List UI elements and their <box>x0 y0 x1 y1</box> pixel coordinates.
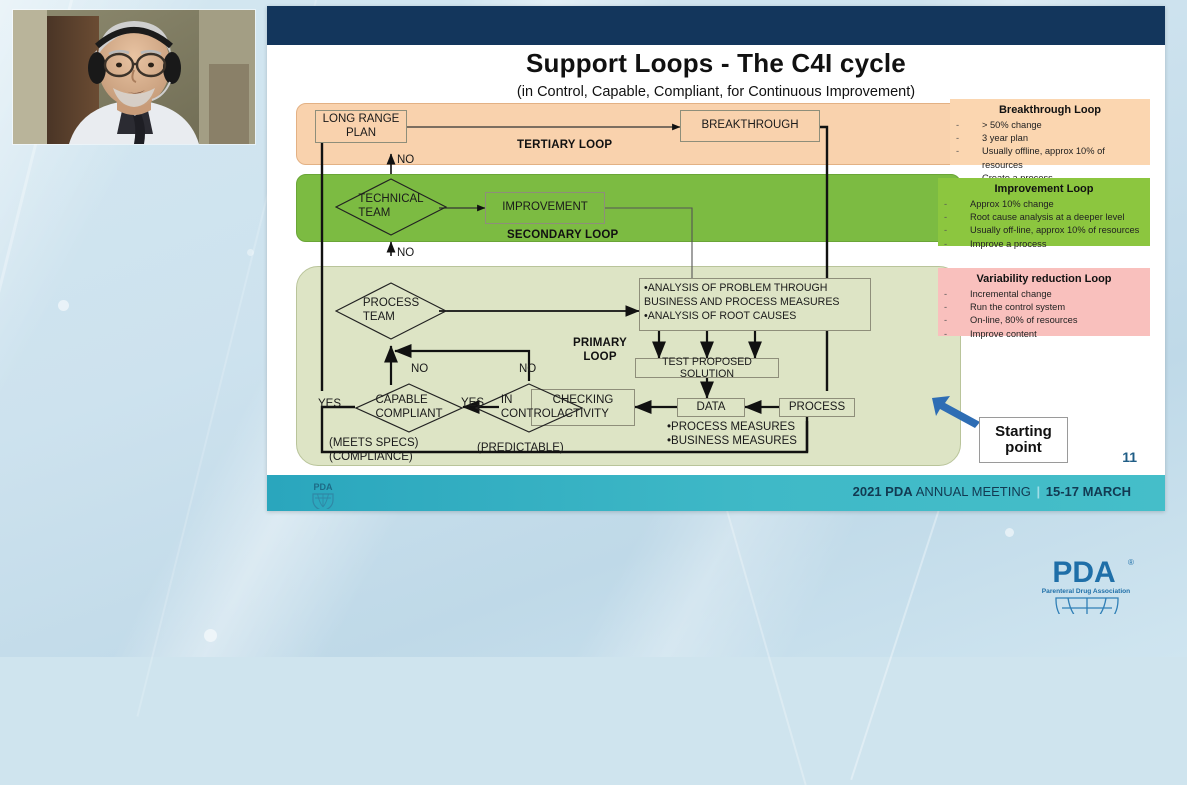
improvement-node[interactable]: IMPROVEMENT <box>485 192 605 224</box>
starting-point-arrow-icon <box>930 392 984 428</box>
process-node[interactable]: PROCESS <box>779 398 855 417</box>
pda-logo-subtitle: Parenteral Drug Association <box>1042 588 1130 595</box>
capable-compliant-sub-label: (MEETS SPECS) (COMPLIANCE) <box>329 436 418 465</box>
legend-dash: - <box>956 132 982 145</box>
legend-improvement-loop: Improvement Loop -Approx 10% change -Roo… <box>938 178 1150 246</box>
legend-item-text: Improve a process <box>970 238 1046 251</box>
in-control-label: IN CONTROL <box>475 383 583 433</box>
technical-team-label: TECHNICAL TEAM <box>335 178 447 236</box>
legend-item-text: Root cause analysis at a deeper level <box>970 211 1125 224</box>
data-node[interactable]: DATA <box>677 398 745 417</box>
legend-item: -3 year plan <box>956 132 1144 145</box>
legend-item: -Approx 10% change <box>944 198 1144 211</box>
presenter-video-tile[interactable] <box>13 10 255 144</box>
legend-item-text: Incremental change <box>970 288 1052 301</box>
background-dot <box>204 629 217 642</box>
in-control-sub-label: (PREDICTABLE) <box>477 441 564 455</box>
legend-item-text: 3 year plan <box>982 132 1028 145</box>
background-dot <box>58 300 69 311</box>
slide-title: Support Loops - The C4I cycle <box>267 48 1165 79</box>
legend-item: -> 50% change <box>956 119 1144 132</box>
slide-footer-bar: PDA 2021 PDA ANNUAL MEETING | 15-17 MARC… <box>267 475 1165 511</box>
footer-year-brand: 2021 PDA <box>853 484 913 499</box>
legend-dash: - <box>944 301 970 314</box>
svg-text:PDA: PDA <box>313 482 333 492</box>
slide-header-bar <box>267 6 1165 45</box>
presenter-webcam-image <box>13 10 255 144</box>
tertiary-loop-label: TERTIARY LOOP <box>517 139 612 151</box>
breakthrough-node[interactable]: BREAKTHROUGH <box>680 110 820 142</box>
tertiary-no-label: NO <box>397 153 414 167</box>
legend-dash: - <box>944 224 970 237</box>
secondary-loop-label: SECONDARY LOOP <box>507 229 618 241</box>
legend-title: Improvement Loop <box>944 183 1144 195</box>
legend-dash: - <box>944 288 970 301</box>
primary-loop-label: PRIMARY LOOP <box>573 336 627 365</box>
legend-item-text: Usually off-line, approx 10% of resource… <box>970 224 1139 237</box>
legend-dash: - <box>944 238 970 251</box>
legend-dash: - <box>956 119 982 132</box>
footer-separator: | <box>1034 484 1042 499</box>
legend-dash: - <box>956 145 982 171</box>
background-dot <box>247 249 254 256</box>
legend-item: -Root cause analysis at a deeper level <box>944 211 1144 224</box>
pda-footer-logo-icon: PDA <box>309 479 337 509</box>
legend-item: -Run the control system <box>944 301 1144 314</box>
legend-item: -On-line, 80% of resources <box>944 314 1144 327</box>
pda-brand-logo: PDA ® Parenteral Drug Association <box>1036 552 1156 614</box>
technical-team-node[interactable]: TECHNICAL TEAM <box>335 178 447 236</box>
globe-icon <box>1056 598 1118 614</box>
test-proposed-solution-node[interactable]: TEST PROPOSED SOLUTION <box>635 358 779 378</box>
footer-dates: 15-17 MARCH <box>1046 484 1131 499</box>
legend-item: -Usually offline, approx 10% of resource… <box>956 145 1144 171</box>
no-left-label: NO <box>411 362 428 376</box>
secondary-no-label: NO <box>397 246 414 260</box>
no-right-label: NO <box>519 362 536 376</box>
legend-dash: - <box>944 198 970 211</box>
in-control-node[interactable]: IN CONTROL <box>475 383 583 433</box>
legend-dash: - <box>944 328 970 341</box>
legend-dash: - <box>944 211 970 224</box>
legend-title: Variability reduction Loop <box>944 273 1144 285</box>
legend-item: -Improve content <box>944 328 1144 341</box>
legend-item-text: Approx 10% change <box>970 198 1054 211</box>
slide-page-number: 11 <box>1122 449 1137 465</box>
footer-meeting-label: ANNUAL MEETING <box>916 484 1031 499</box>
legend-list: -> 50% change -3 year plan -Usually offl… <box>956 119 1144 185</box>
starting-point-label: Starting point <box>995 424 1052 457</box>
capable-compliant-label: CAPABLE COMPLIANT <box>355 383 463 433</box>
long-range-plan-node[interactable]: LONG RANGE PLAN <box>315 110 407 143</box>
legend-variability-reduction-loop: Variability reduction Loop -Incremental … <box>938 268 1150 336</box>
legend-item: -Improve a process <box>944 238 1144 251</box>
pda-logo-text: PDA <box>1052 556 1115 589</box>
legend-list: -Approx 10% change -Root cause analysis … <box>944 198 1144 251</box>
legend-item-text: Improve content <box>970 328 1037 341</box>
legend-item: -Incremental change <box>944 288 1144 301</box>
footer-meeting-text: 2021 PDA ANNUAL MEETING | 15-17 MARCH <box>853 484 1131 499</box>
analysis-of-problem-node[interactable]: •ANALYSIS OF PROBLEM THROUGH BUSINESS AN… <box>639 278 871 331</box>
legend-item: -Usually off-line, approx 10% of resourc… <box>944 224 1144 237</box>
legend-item-text: Run the control system <box>970 301 1065 314</box>
legend-item-text: Usually offline, approx 10% of resources <box>982 145 1144 171</box>
process-team-node[interactable]: PROCESS TEAM <box>335 282 447 340</box>
pda-registered-mark: ® <box>1128 558 1134 567</box>
process-team-label: PROCESS TEAM <box>335 282 447 340</box>
starting-point-callout: Starting point <box>979 417 1068 463</box>
legend-title: Breakthrough Loop <box>956 104 1144 116</box>
legend-item-text: > 50% change <box>982 119 1042 132</box>
legend-list: -Incremental change -Run the control sys… <box>944 288 1144 341</box>
legend-item-text: On-line, 80% of resources <box>970 314 1077 327</box>
data-measures-label: •PROCESS MEASURES •BUSINESS MEASURES <box>667 420 797 449</box>
legend-dash: - <box>944 314 970 327</box>
capable-compliant-node[interactable]: CAPABLE COMPLIANT <box>355 383 463 433</box>
background-dot <box>1005 528 1014 537</box>
yes-left-label: YES <box>318 397 341 411</box>
yes-mid-label: YES <box>461 396 484 410</box>
legend-breakthrough-loop: Breakthrough Loop -> 50% change -3 year … <box>950 99 1150 165</box>
